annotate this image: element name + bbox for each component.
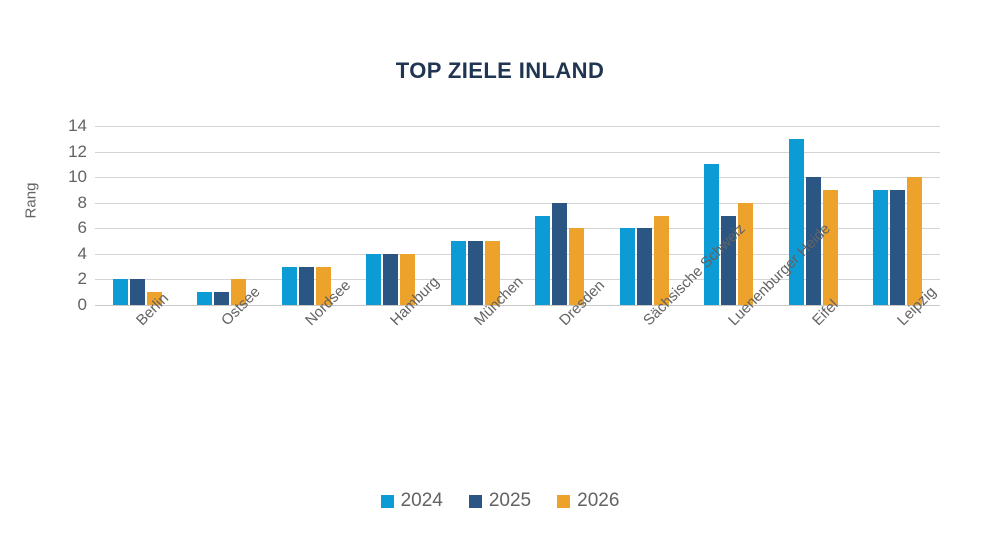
bar[interactable] (451, 241, 466, 305)
bar[interactable] (890, 190, 905, 305)
y-tick-label: 12 (68, 142, 87, 162)
bar-group (602, 126, 687, 305)
bar[interactable] (637, 228, 652, 305)
bar-group (180, 126, 265, 305)
bar[interactable] (704, 164, 719, 305)
y-tick-label: 2 (78, 269, 87, 289)
chart-title: TOP ZIELE INLAND (0, 58, 1000, 84)
y-tick-label: 6 (78, 218, 87, 238)
legend-swatch-icon (381, 495, 394, 508)
bar[interactable] (620, 228, 635, 305)
bar[interactable] (299, 267, 314, 305)
legend-swatch-icon (469, 495, 482, 508)
bar-group (349, 126, 434, 305)
bar[interactable] (383, 254, 398, 305)
bar[interactable] (468, 241, 483, 305)
bar[interactable] (366, 254, 381, 305)
y-axis-ticks: 02468101214 (35, 126, 87, 305)
bar-group (433, 126, 518, 305)
bar-group (856, 126, 941, 305)
legend-item[interactable]: 2025 (469, 490, 531, 512)
y-tick-label: 0 (78, 295, 87, 315)
gridline (95, 305, 940, 306)
y-tick-label: 8 (78, 193, 87, 213)
legend-label: 2025 (489, 490, 531, 512)
bar[interactable] (873, 190, 888, 305)
bar-group (518, 126, 603, 305)
bar-group (95, 126, 180, 305)
y-tick-label: 14 (68, 116, 87, 136)
bar[interactable] (535, 216, 550, 306)
bar[interactable] (823, 190, 838, 305)
y-tick-label: 4 (78, 244, 87, 264)
bar[interactable] (113, 279, 128, 305)
bar[interactable] (197, 292, 212, 305)
bar[interactable] (789, 139, 804, 305)
legend-item[interactable]: 2024 (381, 490, 443, 512)
legend-label: 2024 (401, 490, 443, 512)
legend-label: 2026 (577, 490, 619, 512)
bar[interactable] (214, 292, 229, 305)
chart-container: TOP ZIELE INLAND Rang 02468101214 Berlin… (0, 0, 1000, 540)
legend-item[interactable]: 2026 (557, 490, 619, 512)
bar[interactable] (552, 203, 567, 305)
legend-swatch-icon (557, 495, 570, 508)
bar[interactable] (282, 267, 297, 305)
chart-legend: 202420252026 (0, 490, 1000, 512)
bar[interactable] (130, 279, 145, 305)
bar-group (264, 126, 349, 305)
y-tick-label: 10 (68, 167, 87, 187)
bar[interactable] (907, 177, 922, 305)
